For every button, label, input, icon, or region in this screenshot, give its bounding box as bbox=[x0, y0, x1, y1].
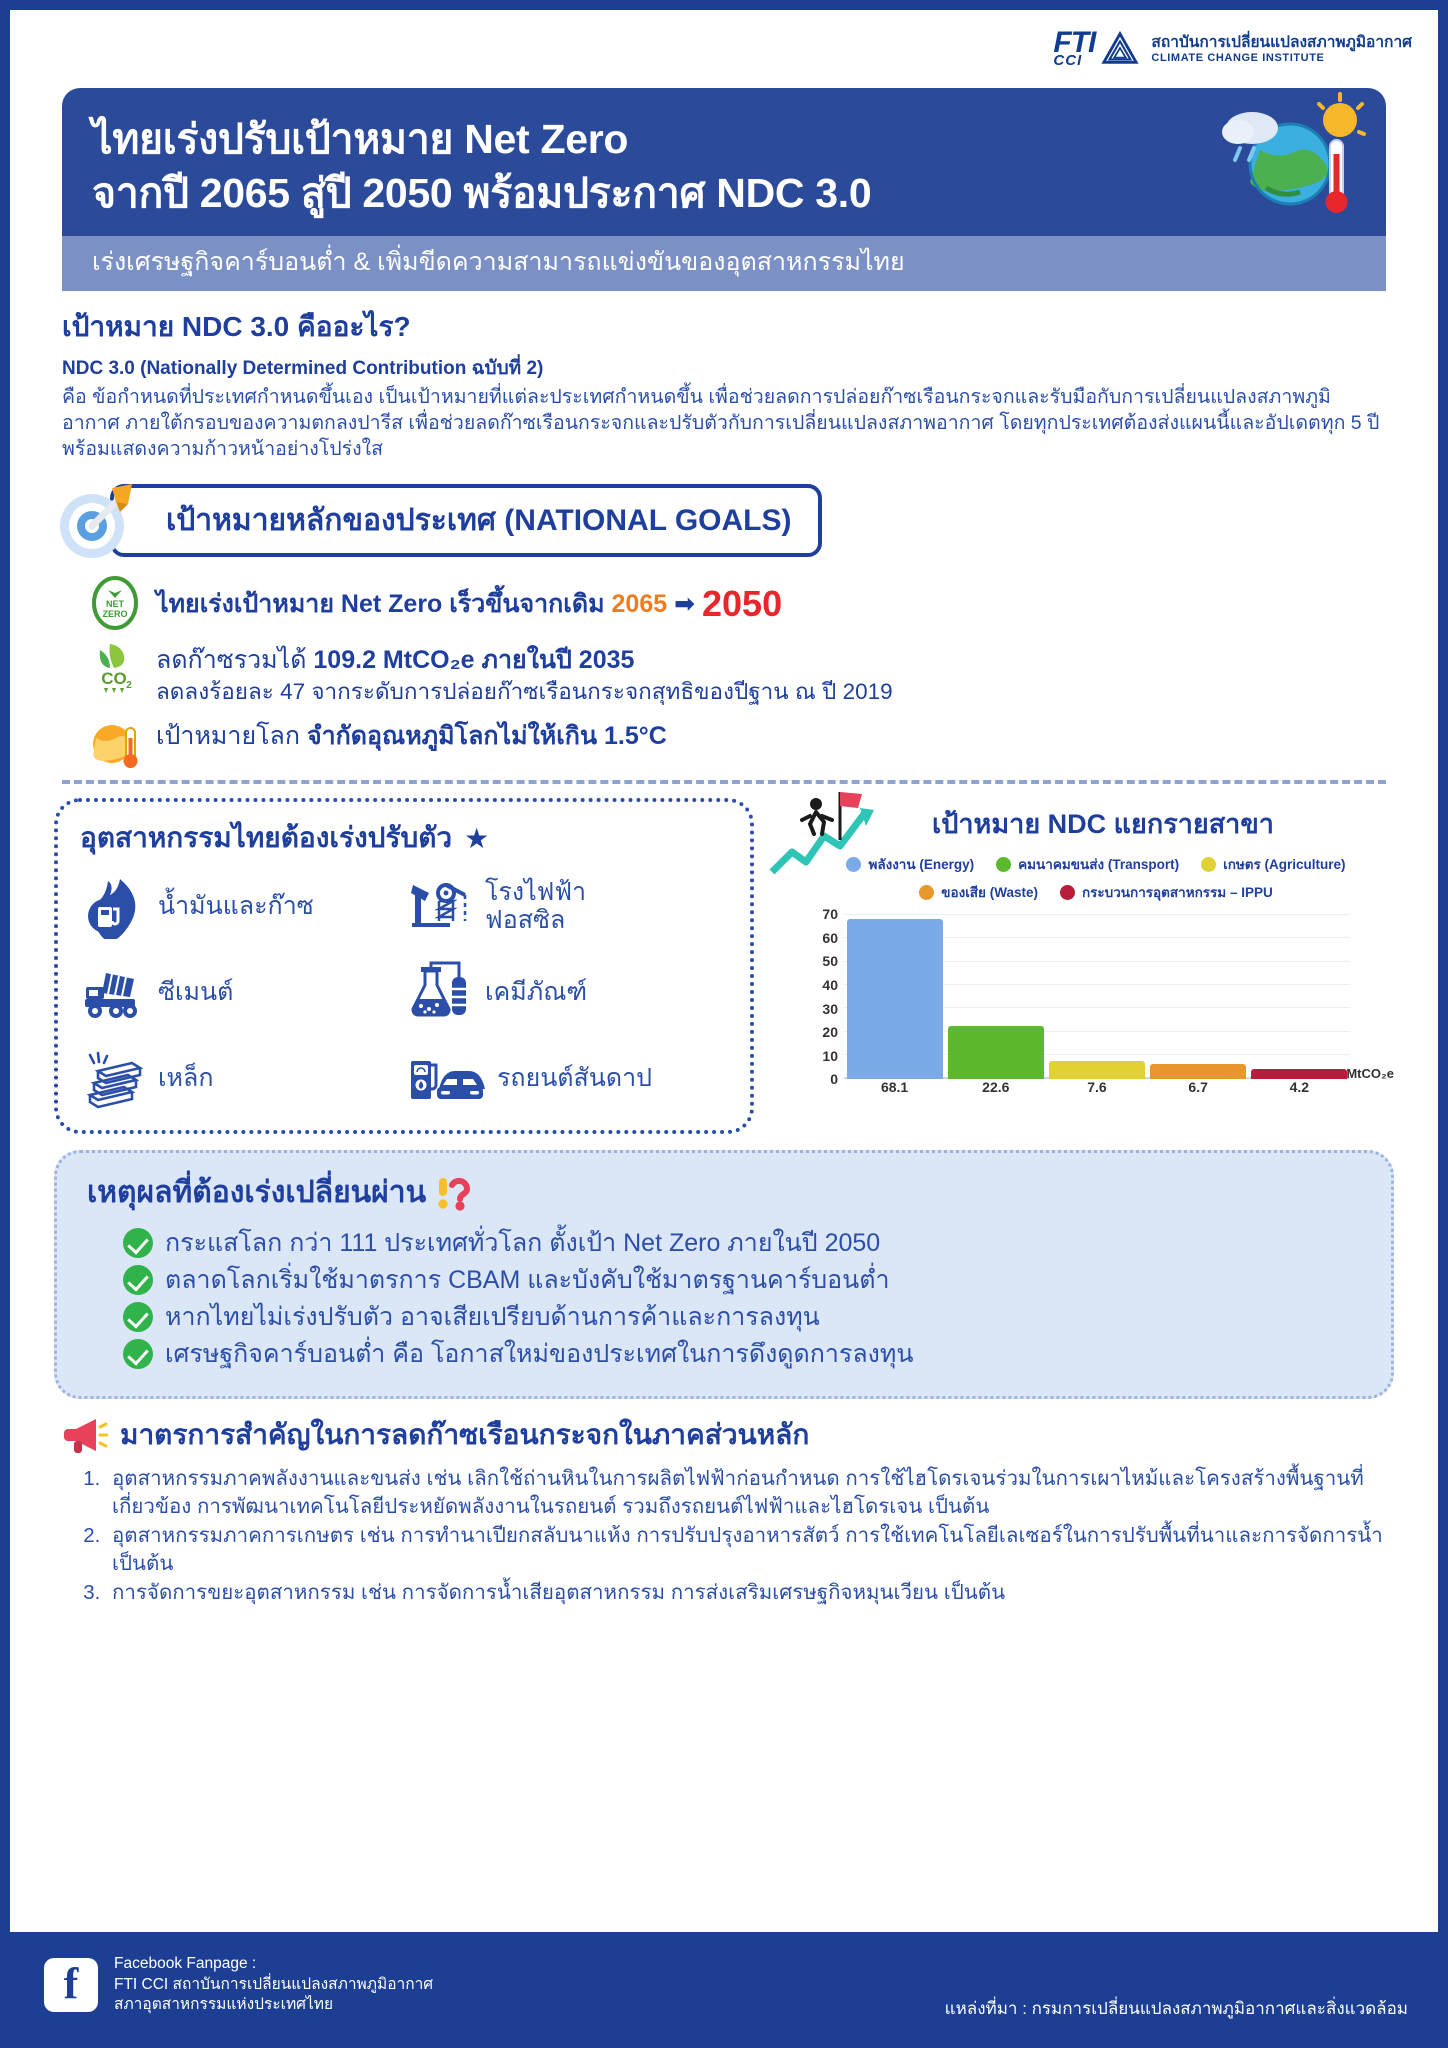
industry-label-cement: ซีเมนต์ bbox=[158, 978, 233, 1006]
globe-weather-icon bbox=[1216, 92, 1366, 232]
chart-plot-area: 010203040506070 68.122.67.66.74.2 MtCO₂e bbox=[808, 909, 1394, 1099]
industry-item-cement: ซีเมนต์ bbox=[80, 950, 407, 1034]
chart-bars bbox=[844, 909, 1350, 1079]
national-goals-header: เป้าหมายหลักของประเทศ (NATIONAL GOALS) bbox=[54, 478, 1438, 562]
reason-item: เศรษฐกิจคาร์บอนต่ำ คือ โอกาสใหม่ของประเท… bbox=[123, 1339, 1365, 1369]
goal-year-old: 2065 bbox=[612, 590, 668, 618]
reasons-title-row: เหตุผลที่ต้องเร่งเปลี่ยนผ่าน bbox=[87, 1169, 1365, 1216]
reason-text: เศรษฐกิจคาร์บอนต่ำ คือ โอกาสใหม่ของประเท… bbox=[165, 1339, 913, 1369]
industry-item-steel: เหล็ก bbox=[80, 1036, 407, 1120]
goal-reduction-prefix: ลดก๊าซรวมได้ bbox=[156, 646, 306, 674]
national-goals-title: เป้าหมายหลักของประเทศ (NATIONAL GOALS) bbox=[110, 484, 822, 557]
chart-ytick: 50 bbox=[822, 953, 838, 969]
industry-item-ice-car: รถยนต์สันดาป bbox=[407, 1036, 734, 1120]
measure-item: อุตสาหกรรมภาคการเกษตร เช่น การทำนาเปียกส… bbox=[106, 1522, 1386, 1577]
fti-wordmark: FTI CCI bbox=[1053, 30, 1095, 68]
measures-list: อุตสาหกรรมภาคพลังงานและขนส่ง เช่น เลิกใช… bbox=[106, 1465, 1386, 1606]
chart-legend-row-2: ของเสีย (Waste) กระบวนการอุตสาหกรรม – IP… bbox=[798, 881, 1394, 903]
legend-swatch-agriculture bbox=[1201, 857, 1216, 872]
chart-ytick: 60 bbox=[822, 930, 838, 946]
legend-label-waste: ของเสีย (Waste) bbox=[941, 881, 1038, 903]
facebook-icon[interactable]: f bbox=[44, 1958, 98, 2012]
measures-title: มาตรการสำคัญในการลดก๊าซเรือนกระจกในภาคส่… bbox=[120, 1413, 809, 1457]
chart-bar-value: 4.2 bbox=[1251, 1079, 1347, 1099]
check-circle-icon bbox=[123, 1265, 153, 1295]
chart-ytick: 0 bbox=[830, 1071, 838, 1087]
industry-label-ice-car: รถยนต์สันดาป bbox=[497, 1064, 652, 1092]
header-banner: ไทยเร่งปรับเป้าหมาย Net Zeroจากปี 2065 ส… bbox=[62, 88, 1386, 236]
industry-label-oil-gas: น้ำมันและก๊าซ bbox=[158, 892, 314, 920]
industry-label-steel: เหล็ก bbox=[158, 1064, 213, 1092]
star-icon: ★ bbox=[464, 822, 489, 855]
legend-swatch-transport bbox=[996, 857, 1011, 872]
industry-item-chemicals: เคมีภัณฑ์ bbox=[407, 950, 734, 1034]
page-title: ไทยเร่งปรับเป้าหมาย Net Zeroจากปี 2065 ส… bbox=[92, 112, 1112, 220]
chart-ytick: 40 bbox=[822, 977, 838, 993]
legend-swatch-ippu bbox=[1060, 885, 1075, 900]
reason-text: หากไทยไม่เร่งปรับตัว อาจเสียเปรียบด้านกา… bbox=[165, 1302, 820, 1332]
industry-label-chemicals: เคมีภัณฑ์ bbox=[485, 978, 587, 1006]
runner-flag-growth-icon bbox=[768, 788, 878, 876]
goal-reduction-line2: ลดลงร้อยละ 47 จากระดับการปล่อยก๊าซเรือนก… bbox=[156, 677, 893, 706]
footer-fb-label: Facebook Fanpage : bbox=[114, 1954, 433, 1975]
goal-netzero-text: ไทยเร่งเป้าหมาย Net Zero เร็วขึ้นจากเดิม… bbox=[156, 576, 782, 628]
logo-org-en: CLIMATE CHANGE INSTITUTE bbox=[1151, 52, 1412, 64]
reasons-panel: เหตุผลที่ต้องเร่งเปลี่ยนผ่าน กระแสโลก กว… bbox=[54, 1150, 1394, 1399]
chart-bar-value: 6.7 bbox=[1150, 1079, 1246, 1099]
oil-pumpjack-icon bbox=[407, 873, 473, 939]
intro-subheading: NDC 3.0 (Nationally Determined Contribut… bbox=[62, 353, 1386, 383]
goal-global-value: จำกัดอุณหภูมิโลกไม่ให้เกิน 1.5°C bbox=[307, 722, 667, 750]
goal-global-prefix: เป้าหมายโลก bbox=[156, 722, 300, 750]
page-subtitle: เร่งเศรษฐกิจคาร์บอนต่ำ & เพิ่มขีดความสาม… bbox=[92, 246, 1356, 279]
intro-section: เป้าหมาย NDC 3.0 คืออะไร? NDC 3.0 (Natio… bbox=[10, 291, 1438, 462]
measures-section: มาตรการสำคัญในการลดก๊าซเรือนกระจกในภาคส่… bbox=[10, 1399, 1438, 1606]
footer-fb-line2: สภาอุตสาหกรรมแห่งประเทศไทย bbox=[114, 1995, 433, 2016]
header-subbanner: เร่งเศรษฐกิจคาร์บอนต่ำ & เพิ่มขีดความสาม… bbox=[62, 236, 1386, 291]
goal-item-global: เป้าหมายโลก จำกัดอุณหภูมิโลกไม่ให้เกิน 1… bbox=[88, 716, 1438, 770]
chart-ytick: 20 bbox=[822, 1024, 838, 1040]
reason-item: หากไทยไม่เร่งปรับตัว อาจเสียเปรียบด้านกา… bbox=[123, 1302, 1365, 1332]
chemical-flask-icon bbox=[407, 959, 473, 1025]
measure-item: อุตสาหกรรมภาคพลังงานและขนส่ง เช่น เลิกใช… bbox=[106, 1465, 1386, 1520]
check-circle-icon bbox=[123, 1339, 153, 1369]
goal-global-text: เป้าหมายโลก จำกัดอุณหภูมิโลกไม่ให้เกิน 1… bbox=[156, 716, 667, 753]
logo-text-block: สถาบันการเปลี่ยนแปลงสภาพภูมิอากาศ CLIMAT… bbox=[1151, 34, 1412, 64]
goal-year-new: 2050 bbox=[702, 583, 782, 624]
arrow-right-icon: ➡ bbox=[674, 590, 695, 618]
chart-bar-value: 22.6 bbox=[948, 1079, 1044, 1099]
measures-title-row: มาตรการสำคัญในการลดก๊าซเรือนกระจกในภาคส่… bbox=[62, 1413, 1386, 1457]
legend-label-energy: พลังงาน (Energy) bbox=[868, 853, 974, 875]
reasons-title: เหตุผลที่ต้องเร่งเปลี่ยนผ่าน bbox=[87, 1169, 426, 1216]
chart-bar bbox=[948, 1026, 1044, 1079]
goal-item-reduction: CO 2 ลดก๊าซรวมได้ 109.2 MtCO₂e ภายในปี 2… bbox=[88, 640, 1438, 706]
goal-netzero-label: ไทยเร่งเป้าหมาย Net Zero เร็วขึ้นจากเดิม bbox=[156, 590, 605, 618]
check-circle-icon bbox=[123, 1302, 153, 1332]
exclamation-question-icon bbox=[436, 1174, 474, 1212]
industry-item-oil-gas: น้ำมันและก๊าซ bbox=[80, 864, 407, 948]
chart-bar bbox=[1150, 1064, 1246, 1080]
triangle-logo-icon bbox=[1101, 30, 1139, 68]
chart-legend-row-1: พลังงาน (Energy) คมนาคมขนส่ง (Transport)… bbox=[798, 853, 1394, 875]
goal-reduction-line1: ลดก๊าซรวมได้ 109.2 MtCO₂e ภายในปี 2035 bbox=[156, 640, 893, 677]
national-goals-list: NET ZERO ไทยเร่งเป้าหมาย Net Zero เร็วขึ… bbox=[88, 576, 1438, 770]
infographic-page: FTI CCI สถาบันการเปลี่ยนแปลงสภาพภูมิอากา… bbox=[10, 10, 1438, 2038]
car-fuel-pump-icon bbox=[407, 1045, 485, 1111]
chart-y-axis: 010203040506070 bbox=[808, 909, 842, 1079]
middle-section: อุตสาหกรรมไทยต้องเร่งปรับตัว ★ น้ำมันและ… bbox=[10, 784, 1438, 1134]
goal-item-netzero: NET ZERO ไทยเร่งเป้าหมาย Net Zero เร็วขึ… bbox=[88, 576, 1438, 630]
legend-label-agriculture: เกษตร (Agriculture) bbox=[1223, 853, 1345, 875]
footer-source: แหล่งที่มา : กรมการเปลี่ยนแปลงสภาพภูมิอา… bbox=[945, 1995, 1408, 2038]
industry-label-fossil-power: โรงไฟฟ้า ฟอสซิล bbox=[485, 878, 586, 934]
measure-item: การจัดการขยะอุตสาหกรรม เช่น การจัดการน้ำ… bbox=[106, 1579, 1386, 1606]
industry-title: อุตสาหกรรมไทยต้องเร่งปรับตัว bbox=[80, 816, 452, 860]
reason-text: ตลาดโลกเริ่มใช้มาตรการ CBAM และบังคับใช้… bbox=[165, 1265, 890, 1295]
chart-ytick: 10 bbox=[822, 1048, 838, 1064]
chart-unit-label: MtCO₂e bbox=[1346, 1066, 1394, 1081]
legend-swatch-waste bbox=[919, 885, 934, 900]
intro-heading: เป้าหมาย NDC 3.0 คืออะไร? bbox=[62, 305, 1386, 349]
reason-text: กระแสโลก กว่า 111 ประเทศทั่วโลก ตั้งเป้า… bbox=[165, 1228, 880, 1258]
legend-label-ippu: กระบวนการอุตสาหกรรม – IPPU bbox=[1082, 881, 1273, 903]
legend-label-transport: คมนาคมขนส่ง (Transport) bbox=[1018, 853, 1179, 875]
logo-org-th: สถาบันการเปลี่ยนแปลงสภาพภูมิอากาศ bbox=[1151, 34, 1412, 52]
co2-leaf-icon: CO 2 bbox=[88, 640, 142, 694]
globe-thermometer-icon bbox=[88, 716, 142, 770]
page-footer: f Facebook Fanpage : FTI CCI สถาบันการเป… bbox=[10, 1932, 1438, 2038]
page-title-line-2: จากปี 2065 สู่ปี 2050 พร้อมประกาศ NDC 3.… bbox=[92, 170, 871, 216]
megaphone-icon bbox=[62, 1415, 108, 1455]
fti-mark: FTI CCI bbox=[1053, 30, 1139, 68]
legend-item-transport: คมนาคมขนส่ง (Transport) bbox=[996, 853, 1179, 875]
legend-item-agriculture: เกษตร (Agriculture) bbox=[1201, 853, 1345, 875]
legend-item-waste: ของเสีย (Waste) bbox=[919, 881, 1038, 903]
target-dart-icon bbox=[54, 478, 138, 562]
svg-text:CO: CO bbox=[101, 669, 127, 688]
reason-item: ตลาดโลกเริ่มใช้มาตรการ CBAM และบังคับใช้… bbox=[123, 1265, 1365, 1295]
steel-beams-icon bbox=[80, 1045, 146, 1111]
reason-item: กระแสโลก กว่า 111 ประเทศทั่วโลก ตั้งเป้า… bbox=[123, 1228, 1365, 1258]
ndc-sector-chart: เป้าหมาย NDC แยกรายสาขา พลังงาน (Energy)… bbox=[762, 798, 1394, 1134]
chart-bar bbox=[1251, 1069, 1347, 1079]
fti-cci-logo: FTI CCI สถาบันการเปลี่ยนแปลงสภาพภูมิอากา… bbox=[1053, 30, 1412, 68]
industry-item-fossil-power: โรงไฟฟ้า ฟอสซิล bbox=[407, 864, 734, 948]
intro-body: คือ ข้อกำหนดที่ประเทศกำหนดขึ้นเอง เป็นเป… bbox=[62, 384, 1386, 462]
industry-grid: น้ำมันและก๊าซ bbox=[80, 864, 734, 1120]
chart-bar-value: 7.6 bbox=[1049, 1079, 1145, 1099]
svg-text:2: 2 bbox=[126, 680, 132, 691]
legend-item-ippu: กระบวนการอุตสาหกรรม – IPPU bbox=[1060, 881, 1273, 903]
chart-ytick: 70 bbox=[822, 906, 838, 922]
chart-x-labels: 68.122.67.66.74.2 bbox=[844, 1079, 1350, 1099]
industry-title-row: อุตสาหกรรมไทยต้องเร่งปรับตัว ★ bbox=[80, 816, 734, 860]
chart-bar bbox=[847, 919, 943, 1080]
svg-text:NET: NET bbox=[106, 599, 125, 609]
reasons-list: กระแสโลก กว่า 111 ประเทศทั่วโลก ตั้งเป้า… bbox=[123, 1228, 1365, 1369]
fuel-flame-icon bbox=[80, 873, 146, 939]
chart-bar-value: 68.1 bbox=[847, 1079, 943, 1099]
cement-truck-icon bbox=[80, 959, 146, 1025]
footer-fb-line1: FTI CCI สถาบันการเปลี่ยนแปลงสภาพภูมิอากา… bbox=[114, 1975, 433, 1996]
industry-panel: อุตสาหกรรมไทยต้องเร่งปรับตัว ★ น้ำมันและ… bbox=[54, 798, 754, 1134]
check-circle-icon bbox=[123, 1228, 153, 1258]
svg-text:ZERO: ZERO bbox=[102, 609, 127, 619]
chart-ytick: 30 bbox=[822, 1001, 838, 1017]
logo-bar: FTI CCI สถาบันการเปลี่ยนแปลงสภาพภูมิอากา… bbox=[10, 10, 1438, 88]
net-zero-badge-icon: NET ZERO bbox=[88, 576, 142, 630]
goal-reduction-text: ลดก๊าซรวมได้ 109.2 MtCO₂e ภายในปี 2035 ล… bbox=[156, 640, 893, 706]
chart-bar bbox=[1049, 1061, 1145, 1079]
goal-reduction-value: 109.2 MtCO₂e ภายในปี 2035 bbox=[313, 646, 634, 674]
page-title-line-1: ไทยเร่งปรับเป้าหมาย Net Zero bbox=[92, 116, 628, 162]
footer-facebook-block: Facebook Fanpage : FTI CCI สถาบันการเปลี… bbox=[114, 1954, 433, 2017]
